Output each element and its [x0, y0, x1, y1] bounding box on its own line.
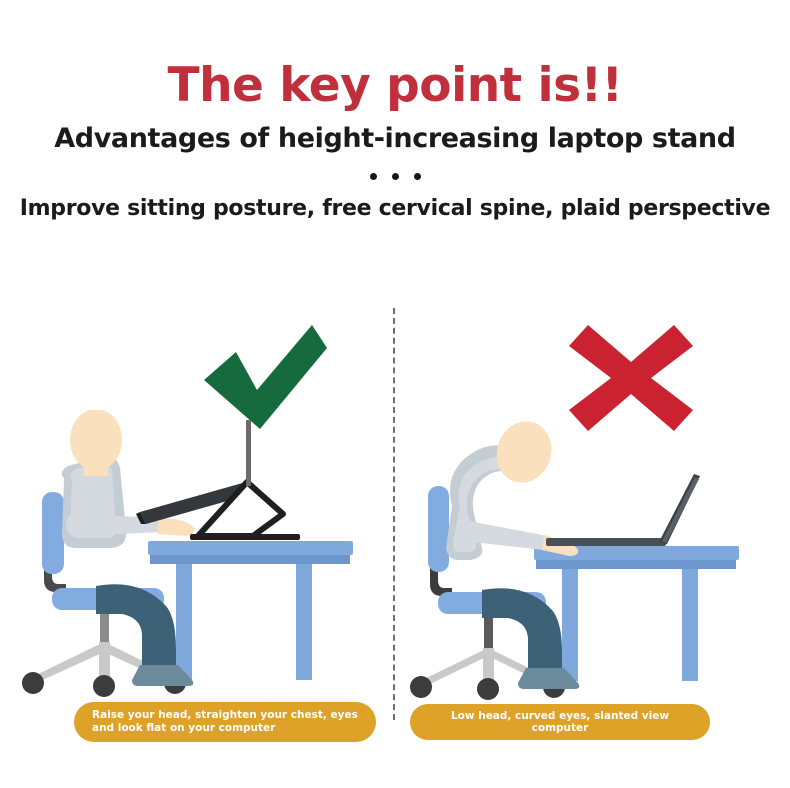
illustration-good-posture: [0, 410, 390, 700]
dot-icon: [370, 173, 377, 180]
header-block: The key point is!! Advantages of height-…: [0, 0, 790, 220]
panel-good-posture: [0, 300, 390, 760]
page-subtitle: Advantages of height-increasing laptop s…: [0, 109, 790, 152]
illustration-bad-posture: [396, 410, 786, 700]
panel-bad-posture: [396, 300, 786, 760]
caption-good-posture: Raise your head, straighten your chest, …: [74, 702, 376, 742]
dot-icon: [414, 173, 421, 180]
caption-bad-posture: Low head, curved eyes, slanted view comp…: [410, 704, 710, 740]
panel-divider: [393, 308, 395, 720]
page-title: The key point is!!: [0, 0, 790, 109]
dot-icon: [392, 173, 399, 180]
separator-dots: [0, 152, 790, 186]
caption-text: Raise your head, straighten your chest, …: [92, 709, 358, 735]
page-tagline: Improve sitting posture, free cervical s…: [0, 186, 790, 220]
caption-text: Low head, curved eyes, slanted view comp…: [428, 710, 692, 734]
